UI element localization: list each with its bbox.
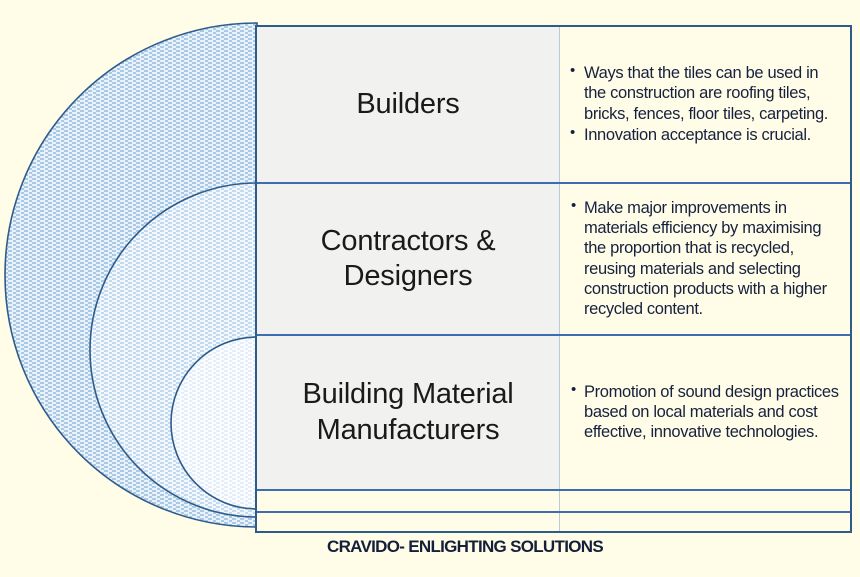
table-row: Building Material Manufacturers Promotio… [257,336,850,491]
table-row: Builders Ways that the tiles can be used… [257,27,850,184]
row-title-contractors-designers: Contractors & Designers [257,184,559,334]
row-body-contractors-designers: Make major improvements in materials eff… [559,184,850,334]
row-title-building-material-manufacturers: Building Material Manufacturers [257,336,559,489]
table-row-empty [257,491,850,513]
list-item: Make major improvements in materials eff… [569,198,842,319]
table-row: Contractors & Designers Make major impro… [257,184,850,336]
list-item: Ways that the tiles can be used in the c… [569,63,842,123]
column-separator [559,27,560,182]
row-title-empty [257,491,559,511]
row-title-empty [257,513,559,531]
column-separator [559,184,560,334]
list-item: Promotion of sound design practices base… [569,382,842,442]
footer-caption: CRAVIDO- ENLIGHTING SOLUTIONS [255,537,675,557]
row-body-empty [559,491,850,511]
slide-canvas: Builders Ways that the tiles can be used… [0,0,860,577]
row-body-building-material-manufacturers: Promotion of sound design practices base… [559,336,850,489]
row-body-empty [559,513,850,531]
stakeholder-table: Builders Ways that the tiles can be used… [255,25,852,533]
bullet-list: Ways that the tiles can be used in the c… [569,63,842,146]
list-item: Innovation acceptance is crucial. [569,125,842,145]
column-separator [559,336,560,489]
row-title-builders: Builders [257,27,559,182]
column-separator [559,513,560,531]
bullet-list: Make major improvements in materials eff… [569,198,842,320]
bullet-list: Promotion of sound design practices base… [569,382,842,443]
column-separator [559,491,560,511]
row-body-builders: Ways that the tiles can be used in the c… [559,27,850,182]
table-row-empty [257,513,850,531]
